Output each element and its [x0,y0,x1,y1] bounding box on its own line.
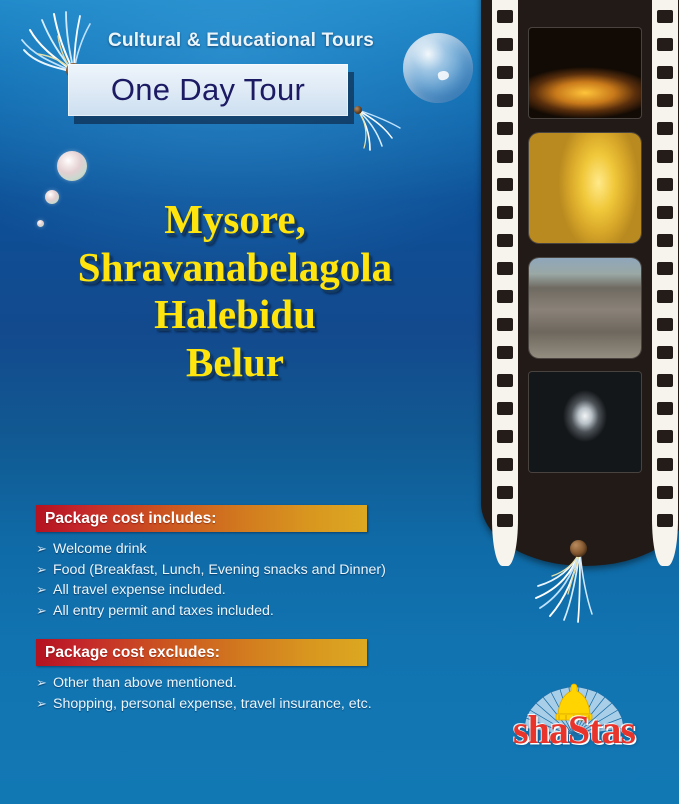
list-item: ➢ Shopping, personal expense, travel ins… [36,694,367,715]
filmstrip-frame-halebidu-temple [529,258,641,358]
sprocket-hole [497,486,513,499]
kicker-text: Cultural & Educational Tours [108,30,374,52]
sprocket-hole [657,262,673,275]
sprocket-hole [497,122,513,135]
filmstrip-frame-gomateshwara-statue [529,133,641,243]
large-bubble-top-right [403,33,473,103]
page-title: One Day Tour [111,72,305,108]
filmstrip-sprockets-left [492,0,518,566]
sprocket-hole [657,486,673,499]
excludes-heading: Package cost excludes: [36,644,220,662]
sprocket-hole [657,402,673,415]
includes-heading-bar: Package cost includes: [36,505,367,532]
sprocket-hole [497,94,513,107]
list-item: ➢ All travel expense included. [36,580,367,601]
sprocket-hole [657,66,673,79]
list-item-label: Welcome drink [53,540,147,560]
logo-wordmark: shaStas [489,706,659,753]
sprocket-hole [497,262,513,275]
sprocket-hole [497,430,513,443]
sprocket-hole [497,150,513,163]
arrow-bullet-icon: ➢ [36,601,53,621]
arrow-bullet-icon: ➢ [36,539,53,559]
sprocket-hole [497,178,513,191]
list-item-label: All entry permit and taxes included. [53,602,274,622]
sprocket-hole [657,10,673,23]
sprocket-hole [497,290,513,303]
excludes-list: ➢ Other than above mentioned. ➢ Shopping… [36,666,367,714]
filmstrip-sprockets-right [652,0,678,566]
arrow-bullet-icon: ➢ [36,694,53,714]
destinations-heading: Mysore, Shravanabelagola Halebidu Belur [0,196,470,386]
sprocket-hole [657,374,673,387]
destination-line: Mysore, [0,196,470,244]
filmstrip [481,0,679,566]
sprocket-hole [497,374,513,387]
includes-heading: Package cost includes: [36,510,216,528]
list-item-label: All travel expense included. [53,581,226,601]
package-includes-panel: Package cost includes: ➢ Welcome drink ➢… [36,505,367,621]
sprocket-hole [657,458,673,471]
list-item-label: Food (Breakfast, Lunch, Evening snacks a… [53,561,386,581]
sprocket-hole [657,430,673,443]
excludes-heading-bar: Package cost excludes: [36,639,367,666]
list-item-label: Shopping, personal expense, travel insur… [53,695,372,715]
sprocket-hole [497,514,513,527]
sprocket-hole [497,38,513,51]
package-excludes-panel: Package cost excludes: ➢ Other than abov… [36,639,367,714]
sprocket-hole [497,66,513,79]
sprocket-hole [497,318,513,331]
pearl-large [57,151,87,181]
arrow-bullet-icon: ➢ [36,580,53,600]
list-item: ➢ All entry permit and taxes included. [36,601,367,622]
sprocket-hole [657,150,673,163]
sprocket-hole [657,206,673,219]
sprocket-hole [657,514,673,527]
destination-line: Halebidu [0,291,470,339]
destination-line: Shravanabelagola [0,244,470,292]
sprocket-hole [497,458,513,471]
feather-svg [352,106,406,154]
sprocket-hole [657,38,673,51]
list-item: ➢ Food (Breakfast, Lunch, Evening snacks… [36,560,367,581]
shastas-logo[interactable]: shaStas [489,682,659,758]
arrow-bullet-icon: ➢ [36,560,53,580]
arrow-bullet-icon: ➢ [36,673,53,693]
title-right-feather-plume [352,106,406,154]
sprocket-hole [497,206,513,219]
sprocket-hole [497,402,513,415]
sprocket-hole [657,290,673,303]
sprocket-hole [497,234,513,247]
feather-bead [354,106,362,114]
sprocket-hole [657,346,673,359]
filmstrip-frame-belur-interior [529,372,641,472]
sprocket-hole [657,178,673,191]
list-item-label: Other than above mentioned. [53,674,237,694]
sprocket-hole [497,346,513,359]
list-item: ➢ Welcome drink [36,539,367,560]
title-box: One Day Tour [68,64,348,116]
includes-list: ➢ Welcome drink ➢ Food (Breakfast, Lunch… [36,532,367,621]
sprocket-hole [657,234,673,247]
sprocket-hole [657,122,673,135]
list-item: ➢ Other than above mentioned. [36,673,367,694]
filmstrip-frame-mysore-palace [529,28,641,118]
sprocket-hole [497,10,513,23]
destination-line: Belur [0,339,470,387]
sprocket-hole [657,318,673,331]
tour-poster: Cultural & Educational Tours One Day Tou… [0,0,679,804]
sprocket-hole [657,94,673,107]
